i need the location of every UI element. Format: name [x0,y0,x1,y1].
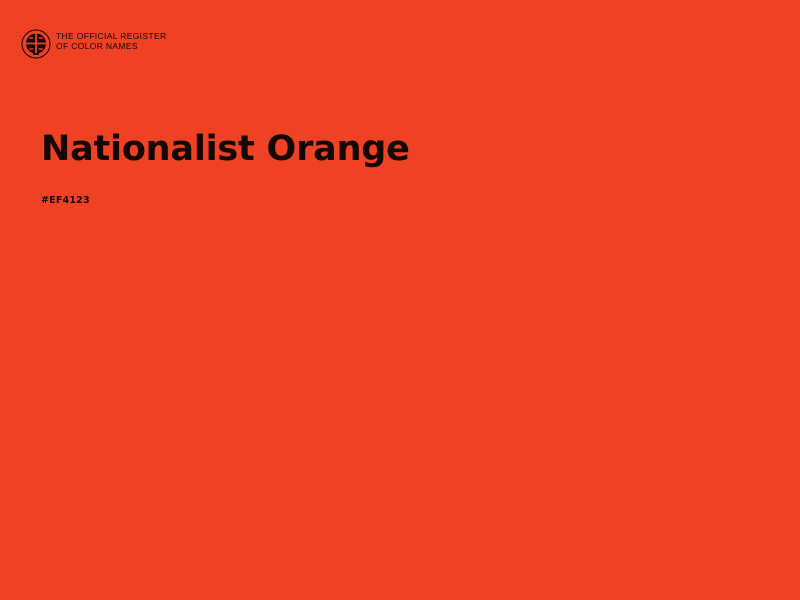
color-name: Nationalist Orange [41,128,741,170]
brand-line-2: OF COLOR NAMES [56,41,166,51]
circular-seal-icon [21,29,51,59]
brand-wordmark: THE OFFICIAL REGISTER OF COLOR NAMES [56,31,166,51]
color-swatch-page: THE OFFICIAL REGISTER OF COLOR NAMES Nat… [0,0,800,600]
color-hex-code: #EF4123 [41,195,741,207]
brand-line-1: THE OFFICIAL REGISTER [56,31,166,41]
swatch-info: Nationalist Orange #EF4123 [41,128,741,207]
brand-lockup: THE OFFICIAL REGISTER OF COLOR NAMES [21,29,166,59]
